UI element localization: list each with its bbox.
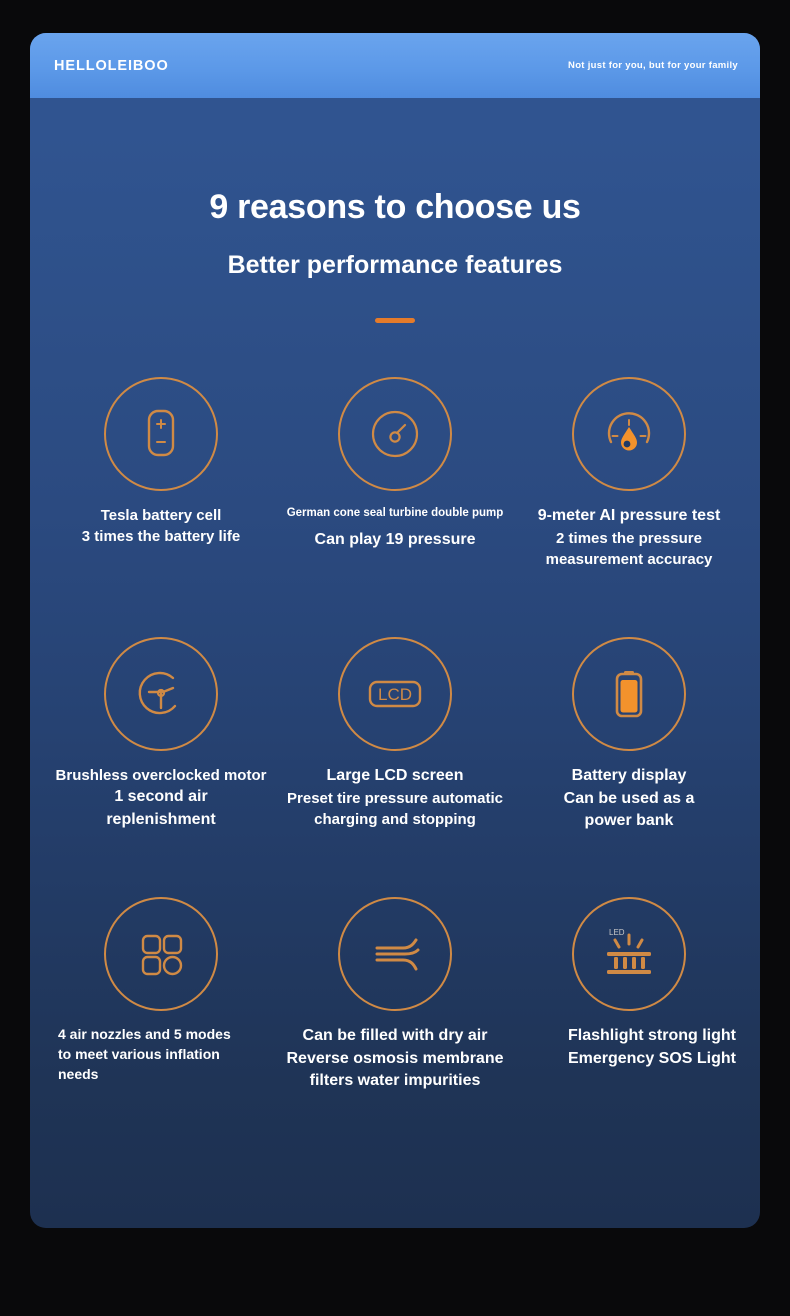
- caption-line: Brushless overclocked motor: [48, 765, 274, 786]
- caption-line: 1 second air: [48, 786, 274, 809]
- page-subtitle: Better performance features: [30, 251, 760, 280]
- badge-circle: [104, 377, 218, 491]
- caption-line: measurement accuracy: [516, 549, 742, 570]
- brand-name: HELLOLEIBOO: [54, 58, 169, 74]
- feature-caption: 4 air nozzles and 5 modes to meet variou…: [44, 1025, 278, 1085]
- badge-circle: LCD: [338, 637, 452, 751]
- feature-item: Battery display Can be used as a power b…: [512, 629, 746, 889]
- promo-card: HELLOLEIBOO Not just for you, but for yo…: [30, 33, 760, 1228]
- feature-item: LED: [512, 889, 746, 1149]
- battery-display-icon: [593, 658, 665, 730]
- feature-item: LCD Large LCD screen Preset tire pressur…: [278, 629, 512, 889]
- caption-line: Flashlight strong light: [516, 1025, 736, 1048]
- lcd-screen-icon: LCD: [356, 658, 434, 730]
- feature-caption: Large LCD screen Preset tire pressure au…: [278, 765, 512, 830]
- caption-line: Battery display: [516, 765, 742, 788]
- badge-circle: [572, 637, 686, 751]
- caption-line: Emergency SOS Light: [516, 1048, 736, 1071]
- caption-line: 9-meter AI pressure test: [516, 505, 742, 528]
- brushless-motor-icon: [125, 658, 197, 730]
- feature-caption: Tesla battery cell 3 times the battery l…: [44, 505, 278, 548]
- feature-caption: German cone seal turbine double pump Can…: [278, 505, 512, 552]
- feature-caption: Battery display Can be used as a power b…: [512, 765, 746, 833]
- feature-item: Tesla battery cell 3 times the battery l…: [44, 369, 278, 629]
- accent-divider: [375, 318, 415, 323]
- caption-line: charging and stopping: [282, 809, 508, 830]
- feature-caption: 9-meter AI pressure test 2 times the pre…: [512, 505, 746, 570]
- page-root: HELLOLEIBOO Not just for you, but for yo…: [0, 0, 790, 1316]
- page-title: 9 reasons to choose us: [30, 188, 760, 227]
- caption-line: power bank: [516, 810, 742, 833]
- caption-line: German cone seal turbine double pump: [282, 505, 508, 521]
- feature-item: 4 air nozzles and 5 modes to meet variou…: [44, 889, 278, 1149]
- droplet-gauge-icon: [593, 398, 665, 470]
- feature-item: Can be filled with dry air Reverse osmos…: [278, 889, 512, 1149]
- caption-line: Large LCD screen: [282, 765, 508, 788]
- caption-line: needs: [58, 1065, 274, 1085]
- brand-tagline: Not just for you, but for your family: [568, 60, 738, 71]
- airflow-icon: [359, 918, 431, 990]
- caption-line: 3 times the battery life: [48, 526, 274, 547]
- brand-header: HELLOLEIBOO Not just for you, but for yo…: [30, 33, 760, 98]
- lcd-screen-label: LCD: [378, 685, 412, 704]
- badge-circle: [572, 377, 686, 491]
- caption-line: to meet various inflation: [58, 1045, 274, 1065]
- caption-line: 2 times the pressure: [516, 528, 742, 549]
- caption-line: Can play 19 pressure: [282, 529, 508, 552]
- feature-caption: Flashlight strong light Emergency SOS Li…: [512, 1025, 746, 1070]
- badge-circle: [338, 897, 452, 1011]
- badge-circle: LED: [572, 897, 686, 1011]
- caption-line: 4 air nozzles and 5 modes: [58, 1025, 274, 1045]
- feature-caption: Can be filled with dry air Reverse osmos…: [278, 1025, 512, 1093]
- feature-item: Brushless overclocked motor 1 second air…: [44, 629, 278, 889]
- caption-line: Can be filled with dry air: [282, 1025, 508, 1048]
- caption-line: Preset tire pressure automatic: [282, 788, 508, 809]
- led-label: LED: [609, 928, 625, 937]
- badge-circle: [104, 897, 218, 1011]
- caption-line: Tesla battery cell: [48, 505, 274, 526]
- nozzles-modes-icon: [125, 918, 197, 990]
- caption-line: Reverse osmosis membrane: [282, 1048, 508, 1071]
- feature-item: German cone seal turbine double pump Can…: [278, 369, 512, 629]
- titles-block: 9 reasons to choose us Better performanc…: [30, 188, 760, 323]
- caption-line: filters water impurities: [282, 1070, 508, 1093]
- badge-circle: [338, 377, 452, 491]
- led-flashlight-icon: LED: [591, 918, 667, 990]
- badge-circle: [104, 637, 218, 751]
- feature-item: 9-meter AI pressure test 2 times the pre…: [512, 369, 746, 629]
- caption-line: Can be used as a: [516, 788, 742, 811]
- feature-grid: Tesla battery cell 3 times the battery l…: [30, 369, 760, 1149]
- feature-caption: Brushless overclocked motor 1 second air…: [44, 765, 278, 832]
- battery-cell-icon: [125, 398, 197, 470]
- pressure-gauge-icon: [359, 398, 431, 470]
- caption-line: replenishment: [48, 809, 274, 832]
